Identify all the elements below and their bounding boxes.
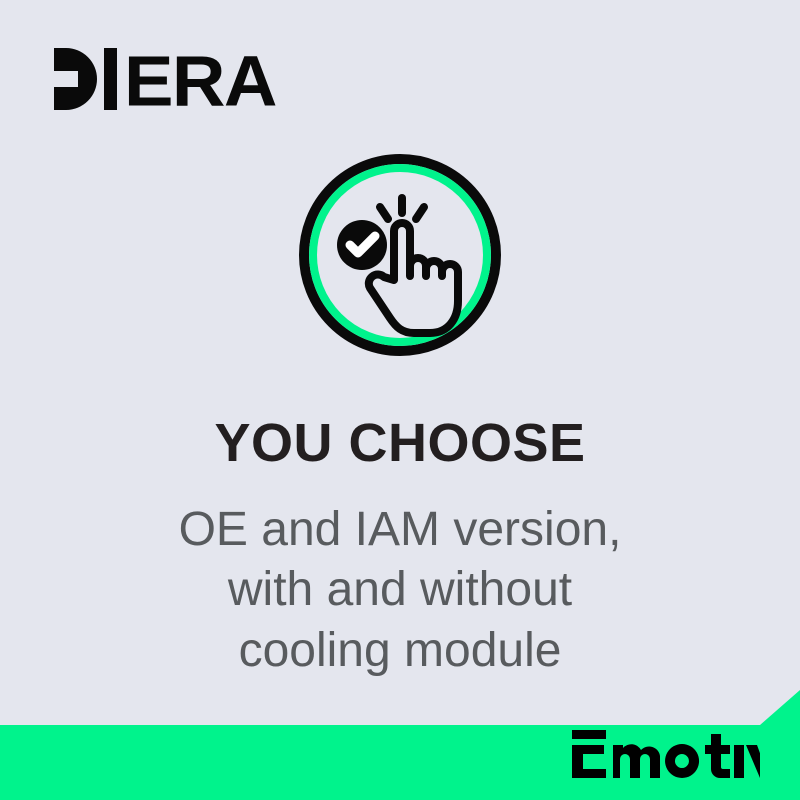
promo-poster: ERA YOU C bbox=[0, 0, 800, 800]
description-text: OE and IAM version, with and without coo… bbox=[0, 500, 800, 681]
era-logo-mark bbox=[52, 46, 118, 117]
page-title: YOU CHOOSE bbox=[0, 415, 800, 472]
era-wordmark: ERA bbox=[124, 45, 276, 116]
description-line: with and without bbox=[0, 560, 800, 620]
era-brand-logo: ERA bbox=[52, 46, 267, 116]
emotive-logo bbox=[570, 728, 760, 780]
description-line: OE and IAM version, bbox=[0, 500, 800, 560]
description-line: cooling module bbox=[0, 621, 800, 681]
footer-banner bbox=[0, 690, 800, 800]
check-badge-icon bbox=[337, 220, 387, 270]
click-hand-check-icon bbox=[297, 152, 503, 358]
